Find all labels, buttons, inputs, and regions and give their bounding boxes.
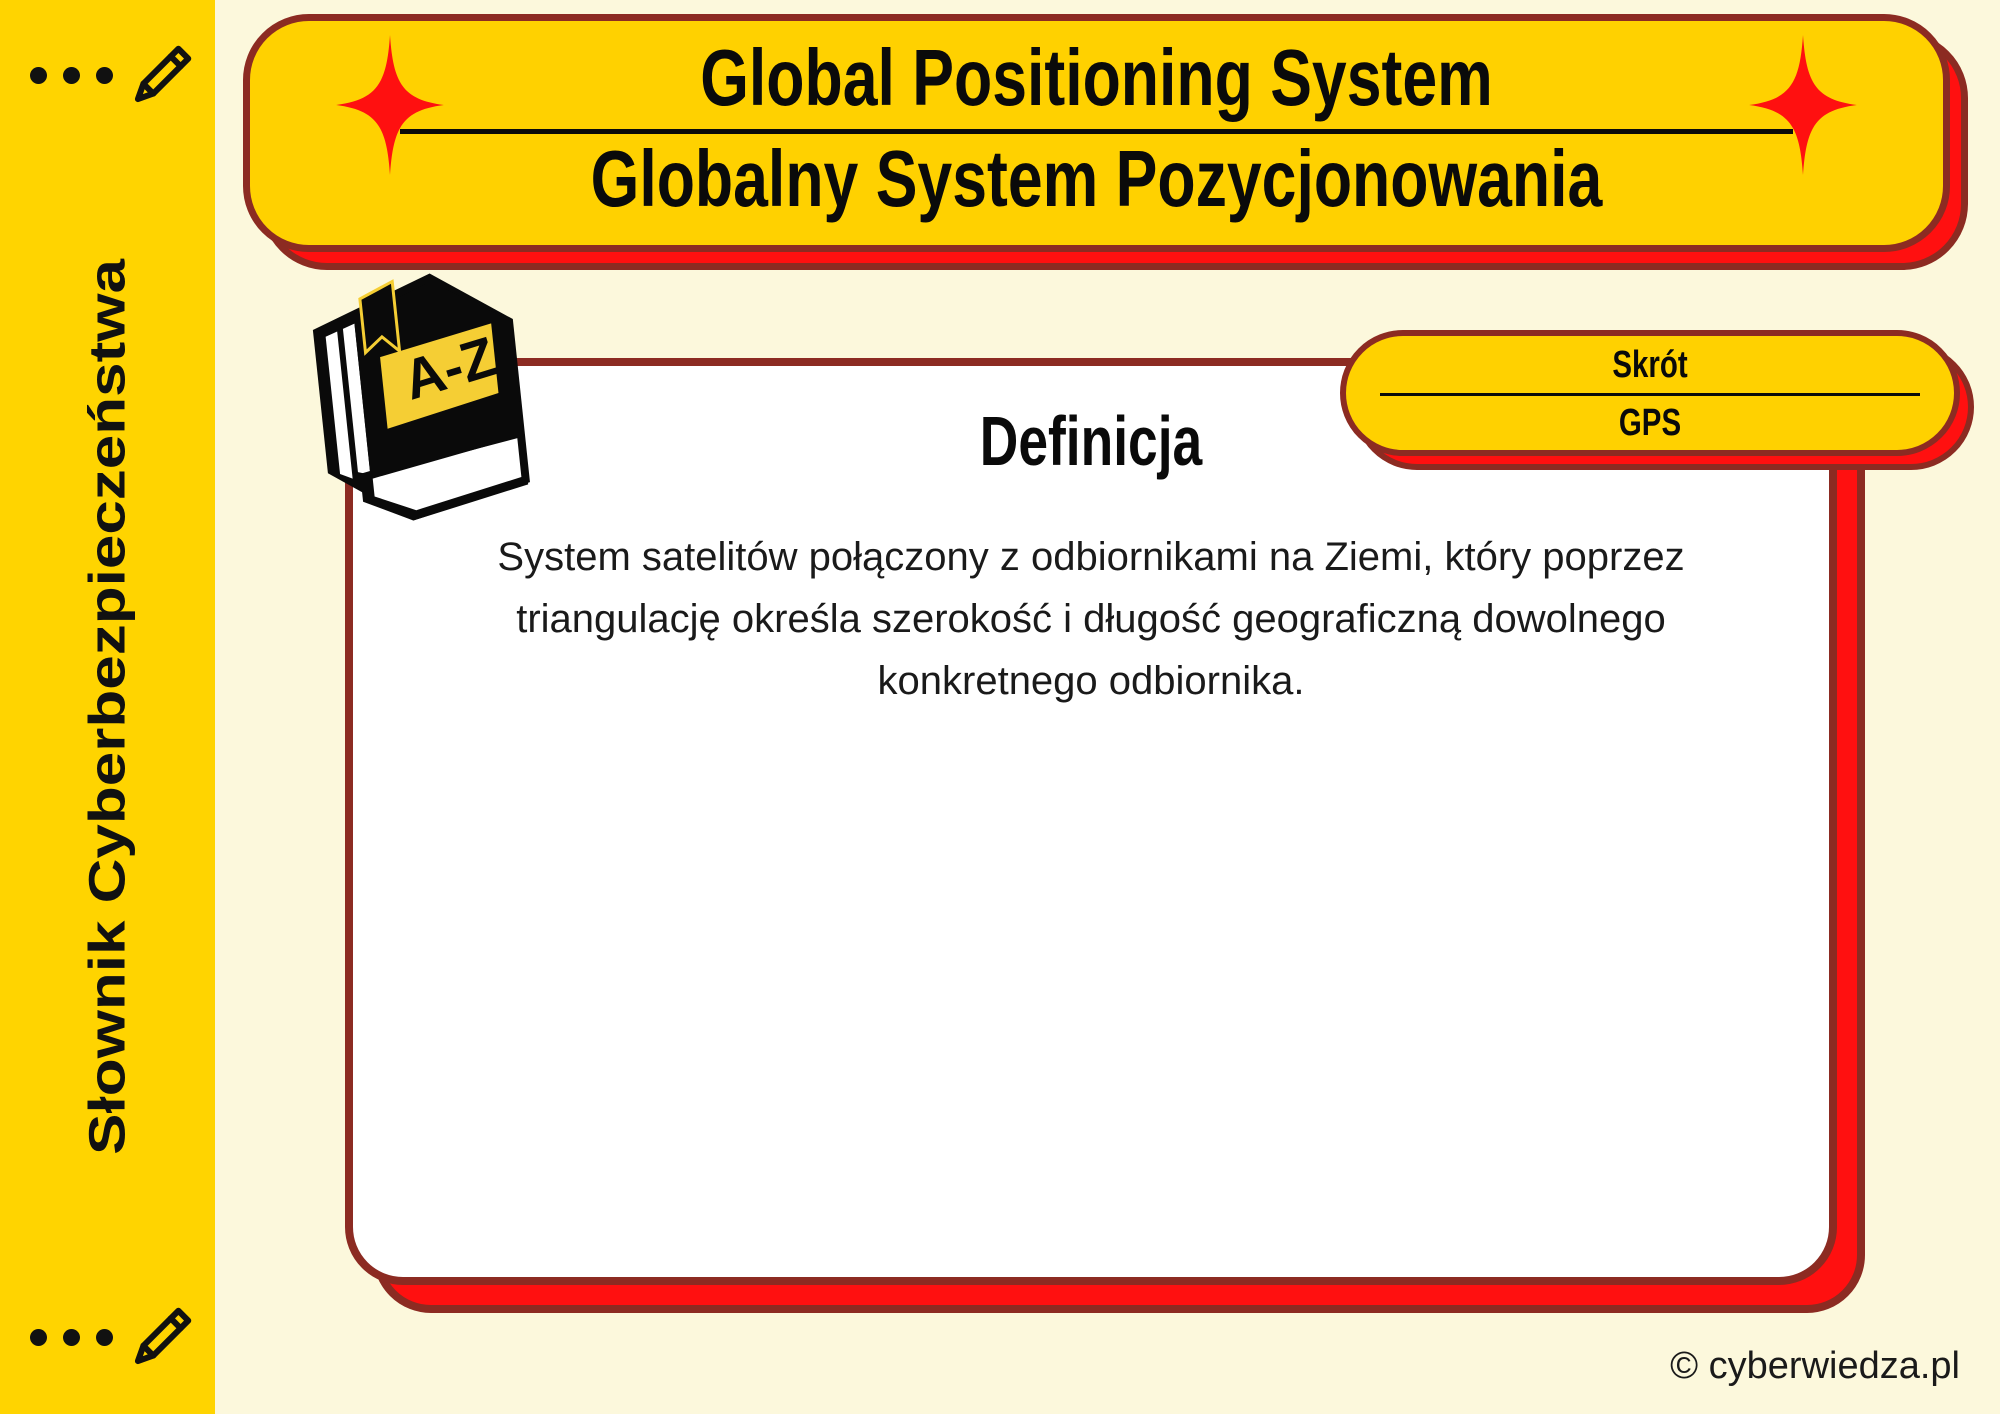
definition-text: System satelitów połączony z odbiornikam… <box>411 526 1771 712</box>
ellipsis-dots-icon <box>30 1329 113 1346</box>
dot-icon <box>63 1329 80 1346</box>
sidebar-title: Słownik Cyberbezpieczeństwa <box>0 0 215 1414</box>
title-banner: Global Positioning System Globalny Syste… <box>243 14 1968 270</box>
dot-icon <box>96 1329 113 1346</box>
abbreviation-badge: Skrót GPS <box>1340 330 2000 475</box>
sidebar: Słownik Cyberbezpieczeństwa <box>0 0 215 1414</box>
footer-credit: © cyberwiedza.pl <box>1670 1345 1960 1388</box>
pencil-icon <box>127 1302 197 1372</box>
az-dictionary-book-icon: A-Z <box>279 246 546 540</box>
sidebar-title-text: Słownik Cyberbezpieczeństwa <box>78 259 136 1155</box>
title-polish: Globalny System Pozycjonowania <box>456 137 1738 220</box>
sidebar-bottom-decoration <box>30 1302 197 1372</box>
dot-icon <box>30 1329 47 1346</box>
abbreviation-value: GPS <box>1402 401 1899 445</box>
title-divider <box>400 129 1793 134</box>
definition-card: Definicja System satelitów połączony z o… <box>345 358 1865 1313</box>
abbreviation-label: Skrót <box>1402 343 1899 387</box>
abbreviation-divider <box>1380 393 1920 396</box>
title-english: Global Positioning System <box>456 37 1738 120</box>
